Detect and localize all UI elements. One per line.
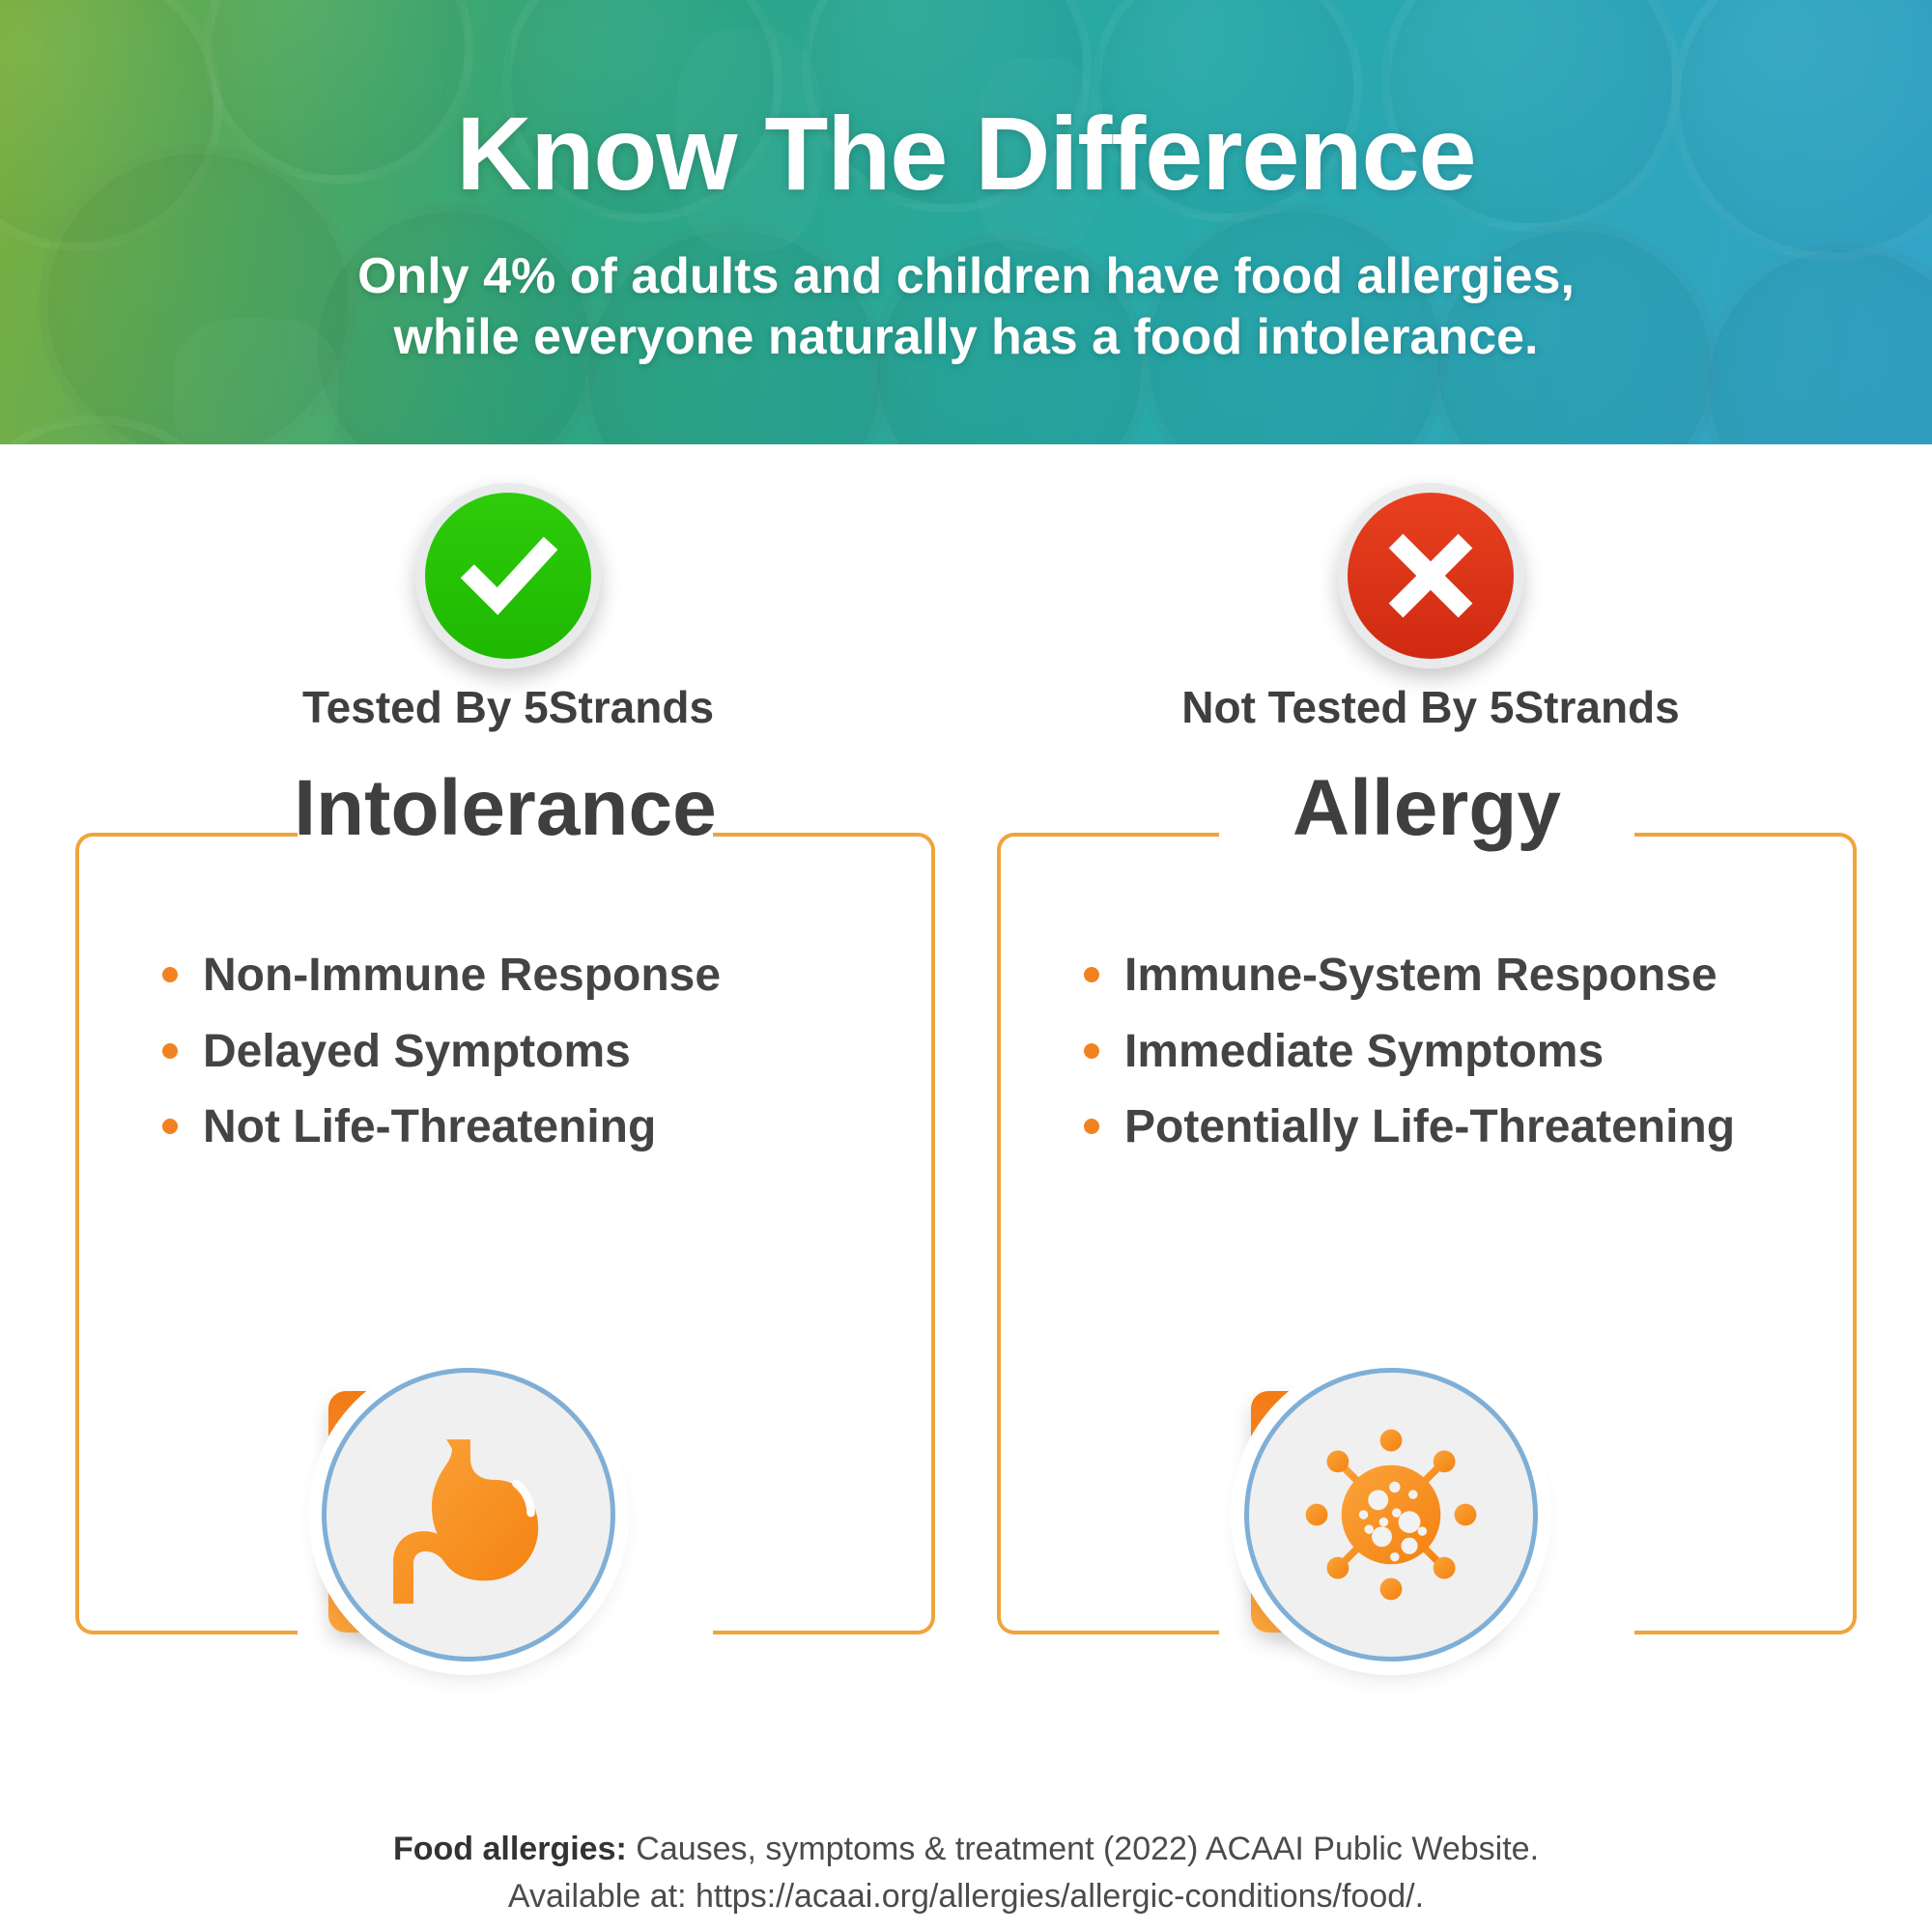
- bullet-dot-icon: [1084, 1119, 1099, 1134]
- column-status-label-intolerance: Tested By 5Strands: [141, 681, 875, 733]
- source-citation: Food allergies: Causes, symptoms & treat…: [0, 1826, 1932, 1921]
- bracket-side-left: [997, 896, 1001, 1569]
- status-badge-tested: [415, 483, 601, 668]
- status-badge-not-tested: [1338, 483, 1523, 668]
- subtitle-line-1: Only 4% of adults and children have food…: [0, 246, 1932, 307]
- bullet-dot-icon: [162, 1119, 178, 1134]
- bullet-list-allergy: Immune-System Response Immediate Symptom…: [1084, 949, 1799, 1177]
- bullet-label: Non-Immune Response: [203, 949, 721, 1004]
- bracket-corner-top-right: [1634, 833, 1857, 900]
- list-item: Non-Immune Response: [162, 949, 877, 1004]
- check-icon: [455, 523, 561, 629]
- citation-line-2: Available at: https://acaai.org/allergie…: [0, 1873, 1932, 1920]
- bullet-label: Potentially Life-Threatening: [1124, 1100, 1735, 1155]
- page-title: Know The Difference: [0, 93, 1932, 213]
- bullet-label: Immediate Symptoms: [1124, 1025, 1604, 1080]
- bracket-side-right: [1853, 896, 1857, 1569]
- bracket-side-right: [931, 896, 935, 1569]
- list-item: Not Life-Threatening: [162, 1100, 877, 1155]
- bracket-side-left: [75, 896, 79, 1569]
- bullet-dot-icon: [1084, 1043, 1099, 1059]
- citation-line-1: Food allergies: Causes, symptoms & treat…: [0, 1826, 1932, 1873]
- bracket-corner-bottom-right: [713, 1567, 935, 1634]
- virus-icon: [1299, 1423, 1483, 1606]
- bullet-list-intolerance: Non-Immune Response Delayed Symptoms Not…: [162, 949, 877, 1177]
- list-item: Potentially Life-Threatening: [1084, 1100, 1799, 1155]
- bracket-corner-bottom-right: [1634, 1567, 1857, 1634]
- bullet-label: Not Life-Threatening: [203, 1100, 656, 1155]
- list-item: Immune-System Response: [1084, 949, 1799, 1004]
- cross-icon: [1378, 523, 1484, 629]
- page-subtitle: Only 4% of adults and children have food…: [0, 246, 1932, 369]
- bracket-corner-top-left: [997, 833, 1219, 900]
- list-item: Delayed Symptoms: [162, 1025, 877, 1080]
- citation-source-label: Food allergies:: [393, 1831, 627, 1867]
- stomach-icon: [377, 1423, 560, 1606]
- bracket-corner-top-right: [713, 833, 935, 900]
- citation-source-rest: Causes, symptoms & treatment (2022) ACAA…: [627, 1831, 1539, 1867]
- bullet-label: Immune-System Response: [1124, 949, 1718, 1004]
- header-banner: Know The Difference Only 4% of adults an…: [0, 0, 1932, 676]
- bullet-dot-icon: [162, 1043, 178, 1059]
- chevron-white-cut: [0, 444, 1932, 676]
- column-status-label-allergy: Not Tested By 5Strands: [1064, 681, 1798, 733]
- bracket-corner-bottom-left: [997, 1567, 1219, 1634]
- bracket-corner-bottom-left: [75, 1567, 298, 1634]
- subtitle-line-2: while everyone naturally has a food into…: [0, 307, 1932, 368]
- bullet-dot-icon: [1084, 967, 1099, 982]
- bullet-dot-icon: [162, 967, 178, 982]
- bracket-corner-top-left: [75, 833, 298, 900]
- list-item: Immediate Symptoms: [1084, 1025, 1799, 1080]
- bullet-label: Delayed Symptoms: [203, 1025, 631, 1080]
- icon-badge-stomach: [322, 1368, 615, 1662]
- icon-badge-virus: [1244, 1368, 1538, 1662]
